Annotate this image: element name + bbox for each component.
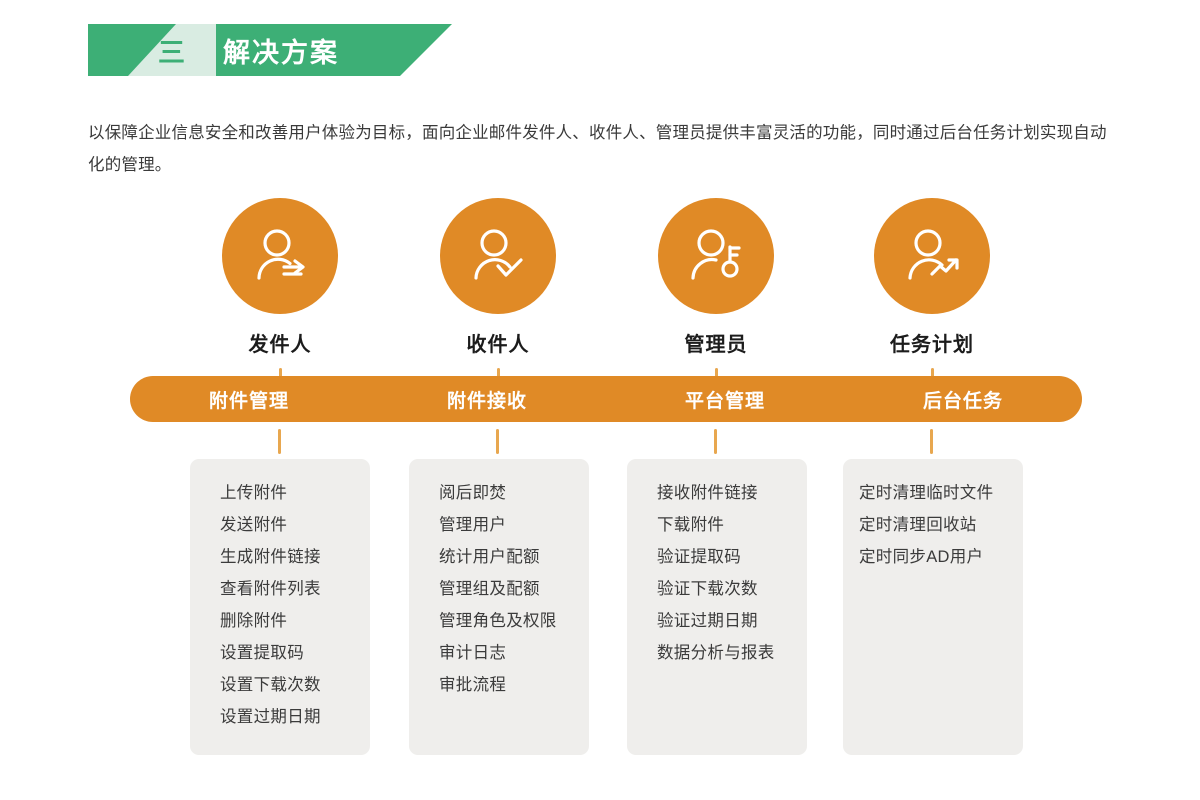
section-number: 三	[136, 24, 208, 76]
role-label: 管理员	[685, 328, 748, 357]
feature-card: 上传附件 发送附件 生成附件链接 查看附件列表 删除附件 设置提取码 设置下载次…	[190, 459, 370, 755]
role-column-sender: 发件人	[171, 198, 389, 392]
feature-item: 验证下载次数	[627, 573, 807, 605]
category-platform-management[interactable]: 平台管理	[606, 386, 844, 413]
role-icon-circle	[222, 198, 338, 314]
feature-item: 上传附件	[190, 477, 370, 509]
role-label: 发件人	[249, 328, 312, 357]
role-label: 任务计划	[890, 328, 974, 357]
feature-item: 阅后即焚	[409, 477, 589, 509]
feature-item: 定时清理临时文件	[843, 477, 1023, 509]
feature-item: 统计用户配额	[409, 541, 589, 573]
feature-card: 阅后即焚 管理用户 统计用户配额 管理组及配额 管理角色及权限 审计日志 审批流…	[409, 459, 589, 755]
feature-item: 验证过期日期	[627, 605, 807, 637]
feature-card: 定时清理临时文件 定时清理回收站 定时同步AD用户	[843, 459, 1023, 755]
role-column-receiver: 收件人	[389, 198, 607, 392]
feature-item: 生成附件链接	[190, 541, 370, 573]
role-icon-circle	[440, 198, 556, 314]
user-check-icon	[466, 224, 530, 288]
feature-item: 设置提取码	[190, 637, 370, 669]
feature-item: 审计日志	[409, 637, 589, 669]
feature-item: 审批流程	[409, 669, 589, 701]
feature-item: 定时清理回收站	[843, 509, 1023, 541]
feature-item: 管理用户	[409, 509, 589, 541]
feature-item: 设置过期日期	[190, 701, 370, 733]
category-attachment-management[interactable]: 附件管理	[130, 386, 368, 413]
feature-card: 接收附件链接 下载附件 验证提取码 验证下载次数 验证过期日期 数据分析与报表	[627, 459, 807, 755]
role-label: 收件人	[467, 328, 530, 357]
section-title: 解决方案	[223, 24, 339, 76]
section-banner: 三 解决方案	[88, 24, 452, 76]
user-trend-icon	[900, 224, 964, 288]
category-attachment-receive[interactable]: 附件接收	[368, 386, 606, 413]
feature-item: 下载附件	[627, 509, 807, 541]
role-icon-circle	[874, 198, 990, 314]
user-arrow-icon	[248, 224, 312, 288]
feature-item: 接收附件链接	[627, 477, 807, 509]
role-column-task-plan: 任务计划	[823, 198, 1041, 392]
feature-item: 管理角色及权限	[409, 605, 589, 637]
role-column-admin: 管理员	[607, 198, 825, 392]
category-bar: 附件管理 附件接收 平台管理 后台任务	[130, 376, 1082, 422]
feature-item: 发送附件	[190, 509, 370, 541]
intro-paragraph: 以保障企业信息安全和改善用户体验为目标，面向企业邮件发件人、收件人、管理员提供丰…	[88, 117, 1118, 181]
feature-item: 删除附件	[190, 605, 370, 637]
connector-line	[930, 429, 933, 454]
feature-item: 管理组及配额	[409, 573, 589, 605]
connector-line	[496, 429, 499, 454]
user-key-icon	[684, 224, 748, 288]
connector-line	[714, 429, 717, 454]
feature-item: 查看附件列表	[190, 573, 370, 605]
feature-item: 定时同步AD用户	[843, 541, 1023, 573]
feature-item: 验证提取码	[627, 541, 807, 573]
feature-item: 数据分析与报表	[627, 637, 807, 669]
connector-line	[278, 429, 281, 454]
category-background-task[interactable]: 后台任务	[844, 386, 1082, 413]
role-icon-circle	[658, 198, 774, 314]
feature-item: 设置下载次数	[190, 669, 370, 701]
